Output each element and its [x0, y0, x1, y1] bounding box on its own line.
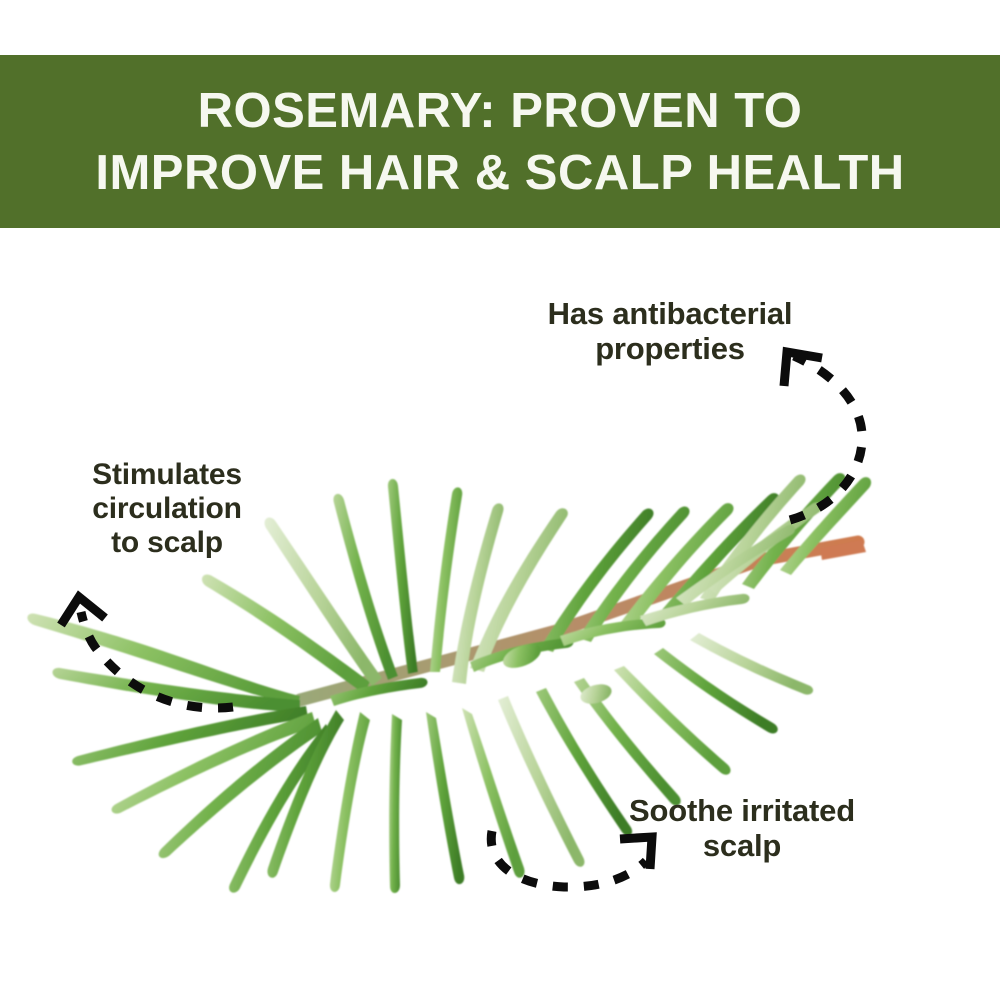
callout-soothe-line-2: scalp: [592, 828, 892, 863]
callout-circulation-line-1: Stimulates: [42, 458, 292, 492]
callout-soothe-line-1: Soothe irritated: [592, 793, 892, 828]
callout-circulation-line-3: to scalp: [42, 526, 292, 560]
infographic-page: ROSEMARY: PROVEN TO IMPROVE HAIR & SCALP…: [0, 0, 1000, 1000]
callout-circulation-line-2: circulation: [42, 492, 292, 526]
callout-antibacterial-line-1: Has antibacterial: [500, 296, 840, 331]
callout-antibacterial: Has antibacterial properties: [500, 296, 840, 367]
callout-circulation: Stimulates circulation to scalp: [42, 458, 292, 561]
callout-antibacterial-line-2: properties: [500, 331, 840, 366]
banner-title-line-1: ROSEMARY: PROVEN TO: [198, 80, 803, 142]
header-banner: ROSEMARY: PROVEN TO IMPROVE HAIR & SCALP…: [0, 55, 1000, 228]
banner-title-line-2: IMPROVE HAIR & SCALP HEALTH: [95, 142, 904, 204]
callout-soothe: Soothe irritated scalp: [592, 793, 892, 864]
